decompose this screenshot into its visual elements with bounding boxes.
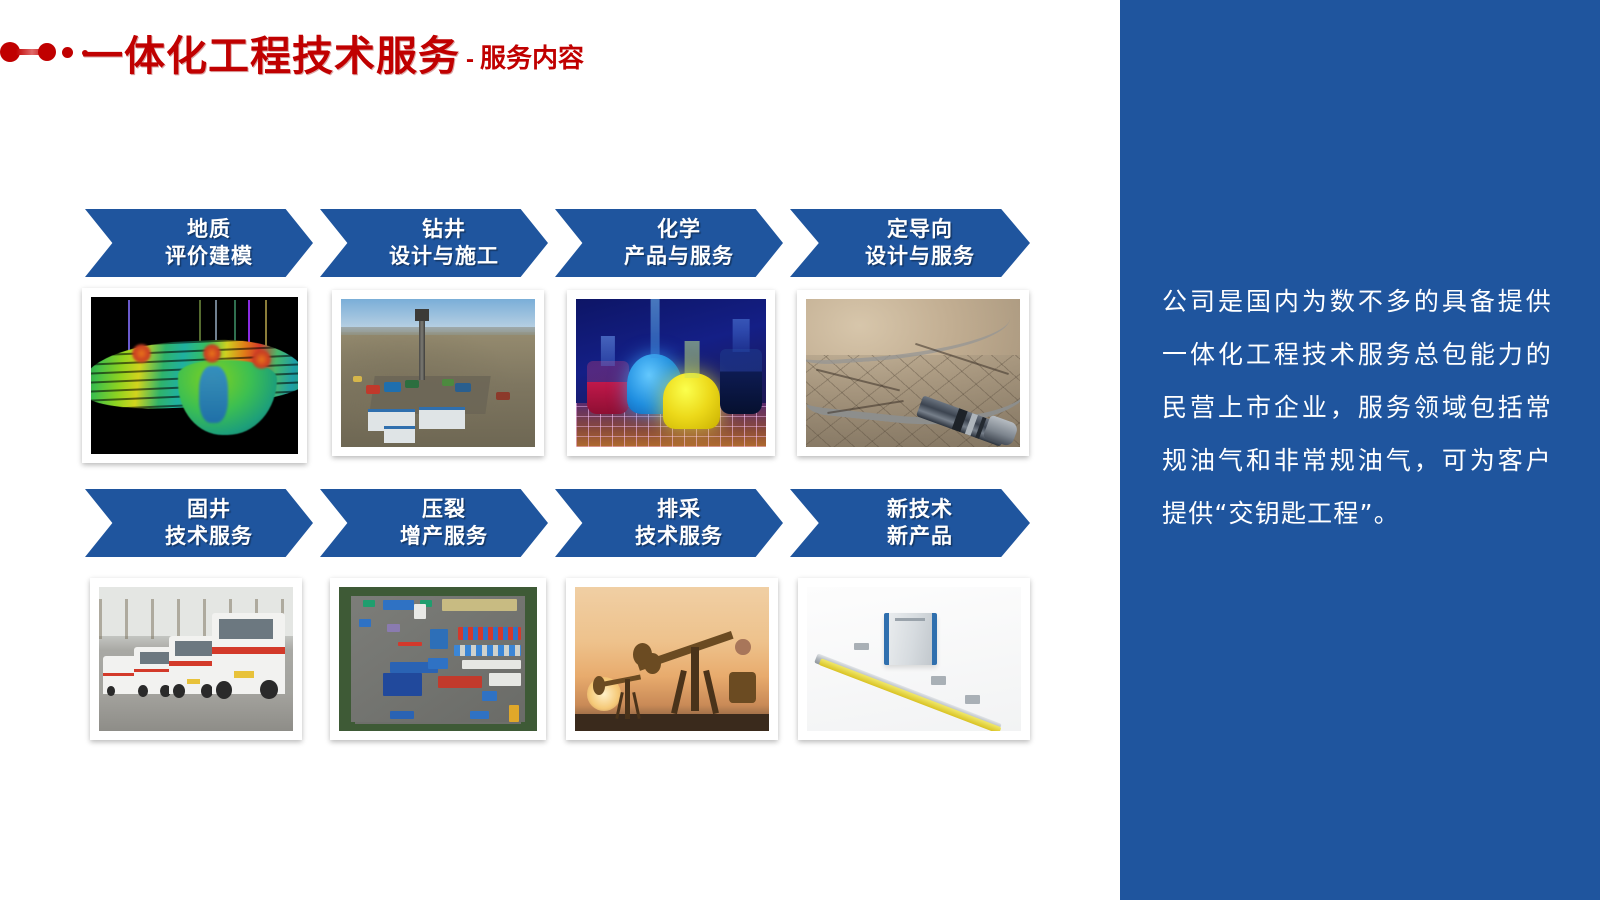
banner-line1: 排采 — [657, 497, 701, 521]
banner-line2: 产品与服务 — [624, 244, 734, 268]
chemistry-flasks-image[interactable] — [567, 290, 775, 456]
red-dots-decoration-icon — [0, 36, 72, 66]
banner-line2: 技术服务 — [165, 524, 253, 548]
process-banner-drilling[interactable]: 钻井 设计与施工 — [320, 209, 548, 277]
page-title-main: 一体化工程技术服务 — [82, 32, 460, 80]
geological-model-image[interactable] — [82, 288, 307, 463]
banner-line1: 压裂 — [422, 497, 466, 521]
pumpjack-sunset-image[interactable] — [566, 578, 778, 740]
banner-line1: 钻井 — [422, 217, 466, 241]
process-banner-geology[interactable]: 地质 评价建模 — [85, 209, 313, 277]
process-banner-cementing[interactable]: 固井 技术服务 — [85, 489, 313, 557]
geological-model-photo — [91, 297, 298, 454]
slide-root: 一体化工程技术服务-服务内容 公司是国内为数不多的具备提供一体化工程技术服务总包… — [0, 0, 1600, 900]
banner-line2: 设计与施工 — [389, 244, 499, 268]
cement-trucks-image[interactable] — [90, 578, 302, 740]
new-tech-equipment-photo — [807, 587, 1021, 731]
new-tech-equipment-image[interactable] — [798, 578, 1030, 740]
page-title-dash: - — [466, 46, 474, 73]
process-banner-new-tech[interactable]: 新技术 新产品 — [790, 489, 1030, 557]
chemistry-flasks-photo — [576, 299, 766, 447]
banner-line2: 增产服务 — [400, 524, 488, 548]
process-banner-chemistry[interactable]: 化学 产品与服务 — [555, 209, 783, 277]
banner-line2: 新产品 — [887, 524, 953, 548]
banner-line1: 地质 — [187, 217, 231, 241]
directional-drilling-image[interactable] — [797, 290, 1029, 456]
banner-line1: 新技术 — [887, 497, 953, 521]
banner-line2: 技术服务 — [635, 524, 723, 548]
page-title: 一体化工程技术服务-服务内容 — [82, 22, 584, 82]
banner-line1: 定导向 — [887, 217, 953, 241]
frac-site-aerial-photo — [339, 587, 537, 731]
side-panel: 公司是国内为数不多的具备提供一体化工程技术服务总包能力的民营上市企业，服务领域包… — [1120, 0, 1600, 900]
slide-header: 一体化工程技术服务-服务内容 — [0, 0, 1120, 108]
process-banner-fracturing[interactable]: 压裂 增产服务 — [320, 489, 548, 557]
cement-trucks-photo — [99, 587, 293, 731]
page-title-sub: 服务内容 — [480, 44, 584, 74]
process-banner-production[interactable]: 排采 技术服务 — [555, 489, 783, 557]
side-panel-paragraph: 公司是国内为数不多的具备提供一体化工程技术服务总包能力的民营上市企业，服务领域包… — [1162, 275, 1552, 540]
frac-site-aerial-image[interactable] — [330, 578, 546, 740]
process-banner-directional[interactable]: 定导向 设计与服务 — [790, 209, 1030, 277]
drilling-rig-photo — [341, 299, 535, 447]
banner-line2: 设计与服务 — [865, 244, 975, 268]
pumpjack-sunset-photo — [575, 587, 769, 731]
drilling-rig-image[interactable] — [332, 290, 544, 456]
banner-line1: 固井 — [187, 497, 231, 521]
banner-line1: 化学 — [657, 217, 701, 241]
banner-line2: 评价建模 — [165, 244, 253, 268]
directional-drilling-photo — [806, 299, 1020, 447]
